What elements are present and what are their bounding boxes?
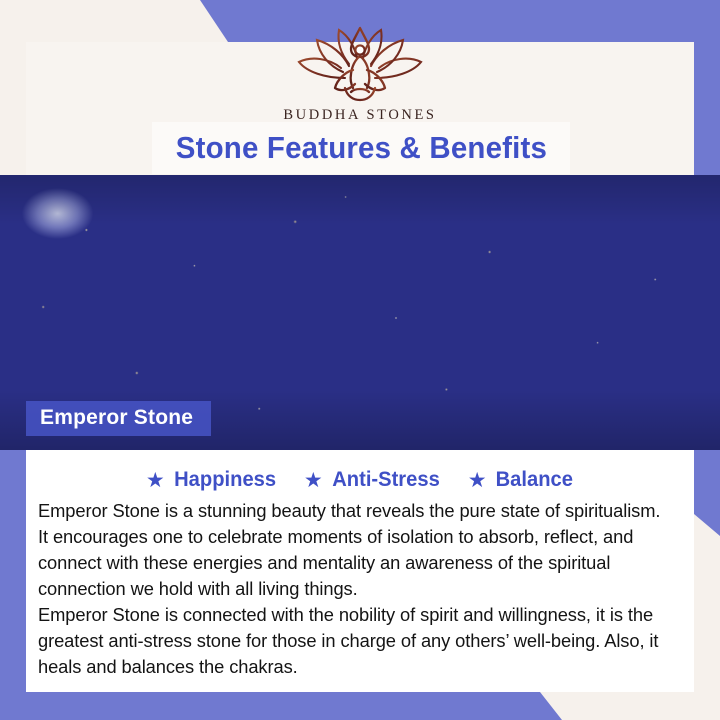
brand-logo: BUDDHA STONES xyxy=(0,22,720,124)
star-icon: ★ xyxy=(304,470,323,491)
stone-name-badge: Emperor Stone xyxy=(26,401,211,436)
infographic-page: BUDDHA STONES Stone Features & Benefits … xyxy=(0,0,720,720)
lotus-meditation-icon xyxy=(285,22,435,106)
page-title: Stone Features & Benefits xyxy=(175,130,546,166)
description-paragraph-2: Emperor Stone is connected with the nobi… xyxy=(38,602,674,680)
star-icon: ★ xyxy=(146,470,165,491)
benefit-item-happiness: ★ Happiness xyxy=(146,468,278,492)
title-panel: Stone Features & Benefits xyxy=(152,122,570,174)
benefits-row: ★ Happiness ★ Anti-Stress ★ Balance xyxy=(26,450,694,492)
stone-photo: Emperor Stone xyxy=(0,175,720,450)
frame-band-bottom xyxy=(0,692,720,720)
benefit-label: Happiness xyxy=(174,468,276,492)
description-block: Emperor Stone is a stunning beauty that … xyxy=(26,492,694,680)
header: BUDDHA STONES Stone Features & Benefits xyxy=(0,0,720,175)
star-icon: ★ xyxy=(468,470,487,491)
stone-name-label: Emperor Stone xyxy=(40,406,193,429)
frame-band-left xyxy=(0,450,26,720)
benefit-item-anti-stress: ★ Anti-Stress xyxy=(304,468,442,492)
benefit-item-balance: ★ Balance xyxy=(468,468,574,492)
benefit-label: Balance xyxy=(495,468,572,492)
description-paragraph-1: Emperor Stone is a stunning beauty that … xyxy=(38,498,674,602)
content-panel: ★ Happiness ★ Anti-Stress ★ Balance Empe… xyxy=(26,450,694,692)
benefit-label: Anti-Stress xyxy=(332,468,440,492)
